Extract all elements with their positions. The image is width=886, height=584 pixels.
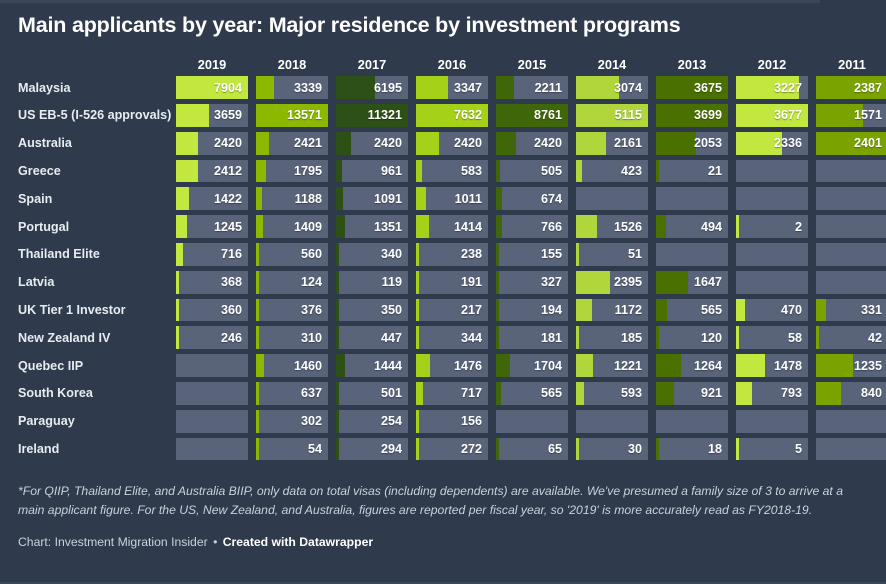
cell-value: 217: [416, 299, 488, 322]
cell-value: 1235: [816, 354, 886, 377]
data-cell[interactable]: 3227: [736, 74, 808, 102]
data-cell[interactable]: 470: [736, 296, 808, 324]
row-cells: 2412179596158350542321: [176, 157, 886, 185]
row-label-thailand-elite: Thailand Elite: [14, 241, 176, 269]
data-cell[interactable]: 5: [736, 435, 808, 463]
data-cell[interactable]: 119: [336, 268, 408, 296]
cell-value: 1011: [416, 187, 488, 210]
data-cell[interactable]: 18: [656, 435, 728, 463]
cell-value: 2336: [736, 132, 808, 155]
data-cell[interactable]: 1414: [416, 213, 488, 241]
cell-value: 2401: [816, 132, 886, 155]
data-cell[interactable]: 302: [256, 407, 328, 435]
cell-value: 340: [336, 243, 408, 266]
data-cell[interactable]: 717: [416, 379, 488, 407]
cell-value: 8761: [496, 104, 568, 127]
data-cell[interactable]: [656, 185, 728, 213]
cell-value: 1409: [256, 215, 328, 238]
data-cell[interactable]: 3699: [656, 102, 728, 130]
data-cell[interactable]: [496, 407, 568, 435]
data-cell[interactable]: [816, 185, 886, 213]
year-label: 2016: [438, 57, 466, 72]
cell-value: 3339: [256, 76, 328, 99]
data-cell[interactable]: 6195: [336, 74, 408, 102]
table-row: Portugal124514091351141476615264942: [14, 213, 872, 241]
cell-value: 3699: [656, 104, 728, 127]
cell-track: [816, 187, 886, 210]
cell-value: 2420: [176, 132, 248, 155]
row-label-latvia: Latvia: [14, 268, 176, 296]
data-cell[interactable]: 2401: [816, 129, 886, 157]
cell-value: 494: [656, 215, 728, 238]
data-cell[interactable]: 294: [336, 435, 408, 463]
data-cell[interactable]: 238: [416, 241, 488, 269]
data-cell[interactable]: 2: [736, 213, 808, 241]
cell-value: 1422: [176, 187, 248, 210]
year-header-2017: 2017: [336, 48, 408, 74]
data-cell[interactable]: 1476: [416, 352, 488, 380]
year-label: 2012: [758, 57, 786, 72]
data-cell[interactable]: 637: [256, 379, 328, 407]
data-cell[interactable]: [816, 268, 886, 296]
cell-value: 7632: [416, 104, 488, 127]
data-cell[interactable]: 423: [576, 157, 648, 185]
data-cell[interactable]: 13571: [256, 102, 328, 130]
year-header-2016: 2016: [416, 48, 488, 74]
row-cells: 14601444147617041221126414781235: [176, 352, 886, 380]
data-cell[interactable]: 3339: [256, 74, 328, 102]
cell-track: [816, 410, 886, 433]
data-cell[interactable]: [176, 352, 248, 380]
cell-value: 21: [656, 160, 728, 183]
data-cell[interactable]: [736, 407, 808, 435]
cell-value: 3227: [736, 76, 808, 99]
data-cell[interactable]: [176, 435, 248, 463]
data-cell[interactable]: [816, 241, 886, 269]
data-cell[interactable]: 51: [576, 241, 648, 269]
cell-value: 238: [416, 243, 488, 266]
cell-value: 6195: [336, 76, 408, 99]
data-cell[interactable]: 217: [416, 296, 488, 324]
cell-value: 2161: [576, 132, 648, 155]
data-cell[interactable]: 3677: [736, 102, 808, 130]
cell-track: [656, 187, 728, 210]
year-header-2018: 2018: [256, 48, 328, 74]
row-cells: 790433396195334722113074367532272387: [176, 74, 886, 102]
year-label: 2017: [358, 57, 386, 72]
data-cell[interactable]: 1460: [256, 352, 328, 380]
data-cell[interactable]: 156: [416, 407, 488, 435]
data-cell[interactable]: 501: [336, 379, 408, 407]
cell-value: 565: [656, 299, 728, 322]
data-cell[interactable]: 65: [496, 435, 568, 463]
data-cell[interactable]: 565: [656, 296, 728, 324]
cell-value: 2420: [336, 132, 408, 155]
table-row: Ireland542942726530185: [14, 435, 872, 463]
data-cell[interactable]: 21: [656, 157, 728, 185]
cell-value: 124: [256, 271, 328, 294]
cell-value: 2387: [816, 76, 886, 99]
cell-value: 1351: [336, 215, 408, 238]
data-cell[interactable]: 350: [336, 296, 408, 324]
data-cell[interactable]: 1571: [816, 102, 886, 130]
cell-value: 11321: [336, 104, 408, 127]
cell-value: 194: [496, 299, 568, 322]
cell-track: [816, 243, 886, 266]
cell-value: 30: [576, 438, 648, 461]
cell-value: 310: [256, 326, 328, 349]
cell-value: 2420: [416, 132, 488, 155]
year-label: 2018: [278, 57, 306, 72]
data-cell[interactable]: 593: [576, 379, 648, 407]
cell-value: 51: [576, 243, 648, 266]
cell-value: 766: [496, 215, 568, 238]
cell-track: [816, 215, 886, 238]
table-row: South Korea637501717565593921793840: [14, 379, 872, 407]
data-cell[interactable]: [816, 157, 886, 185]
cell-value: 1795: [256, 160, 328, 183]
cell-value: 1245: [176, 215, 248, 238]
cell-value: 376: [256, 299, 328, 322]
data-cell[interactable]: 2412: [176, 157, 248, 185]
data-cell[interactable]: 310: [256, 324, 328, 352]
data-cell[interactable]: 1172: [576, 296, 648, 324]
cell-value: 302: [256, 410, 328, 433]
cell-value: 1460: [256, 354, 328, 377]
cell-value: 560: [256, 243, 328, 266]
table-header-row: 201920182017201620152014201320122011: [14, 48, 872, 74]
cell-value: 327: [496, 271, 568, 294]
cell-value: 3074: [576, 76, 648, 99]
data-cell[interactable]: [816, 213, 886, 241]
data-cell[interactable]: [816, 435, 886, 463]
cell-value: 155: [496, 243, 568, 266]
data-cell[interactable]: [736, 241, 808, 269]
table-row: Quebec IIP146014441476170412211264147812…: [14, 352, 872, 380]
data-cell[interactable]: 7632: [416, 102, 488, 130]
year-header-2012: 2012: [736, 48, 808, 74]
data-cell[interactable]: [656, 241, 728, 269]
chart-source: Chart: Investment Migration Insider: [18, 535, 208, 549]
year-label: 2014: [598, 57, 626, 72]
data-cell[interactable]: 1444: [336, 352, 408, 380]
data-cell[interactable]: 11321: [336, 102, 408, 130]
cell-value: 3675: [656, 76, 728, 99]
cell-track: [736, 410, 808, 433]
row-label-greece: Greece: [14, 157, 176, 185]
data-cell[interactable]: 2387: [816, 74, 886, 102]
cell-value: 505: [496, 160, 568, 183]
year-header-2014: 2014: [576, 48, 648, 74]
data-cell[interactable]: 8761: [496, 102, 568, 130]
header-corner-spacer: [14, 48, 176, 74]
table-row: US EB-5 (I-526 approvals)365913571113217…: [14, 102, 872, 130]
cell-value: 7904: [176, 76, 248, 99]
data-cell[interactable]: 3659: [176, 102, 248, 130]
cell-value: 1478: [736, 354, 808, 377]
data-cell[interactable]: 7904: [176, 74, 248, 102]
cell-value: 1414: [416, 215, 488, 238]
data-cell[interactable]: [176, 379, 248, 407]
data-cell[interactable]: 327: [496, 268, 568, 296]
cell-value: 254: [336, 410, 408, 433]
data-cell[interactable]: 2420: [336, 129, 408, 157]
cell-value: 2420: [496, 132, 568, 155]
cell-value: 120: [656, 326, 728, 349]
cell-value: 3347: [416, 76, 488, 99]
cell-track: [576, 410, 648, 433]
row-label-south-korea: South Korea: [14, 379, 176, 407]
cell-value: 423: [576, 160, 648, 183]
data-cell[interactable]: 30: [576, 435, 648, 463]
cell-value: 1571: [816, 104, 886, 127]
data-cell[interactable]: 272: [416, 435, 488, 463]
data-cell[interactable]: 2421: [256, 129, 328, 157]
cell-value: 1264: [656, 354, 728, 377]
year-label: 2015: [518, 57, 546, 72]
row-cells: 637501717565593921793840: [176, 379, 886, 407]
row-label-ireland: Ireland: [14, 435, 176, 463]
data-cell[interactable]: 1647: [656, 268, 728, 296]
row-cells: 1422118810911011674: [176, 185, 886, 213]
data-cell[interactable]: 1011: [416, 185, 488, 213]
data-cell[interactable]: 1795: [256, 157, 328, 185]
year-label: 2011: [838, 57, 866, 72]
data-cell[interactable]: 1245: [176, 213, 248, 241]
table-row: Malaysia79043339619533472211307436753227…: [14, 74, 872, 102]
row-label-portugal: Portugal: [14, 213, 176, 241]
cell-value: 13571: [256, 104, 328, 127]
data-cell[interactable]: 185: [576, 324, 648, 352]
cell-value: 191: [416, 271, 488, 294]
data-cell[interactable]: 360: [176, 296, 248, 324]
data-cell[interactable]: 1351: [336, 213, 408, 241]
cell-value: 637: [256, 382, 328, 405]
cell-value: 181: [496, 326, 568, 349]
data-cell[interactable]: 2395: [576, 268, 648, 296]
row-label-us-eb-5-i-526-approvals: US EB-5 (I-526 approvals): [14, 102, 176, 130]
cell-track: [736, 187, 808, 210]
year-header-2015: 2015: [496, 48, 568, 74]
data-cell[interactable]: [736, 185, 808, 213]
data-cell[interactable]: 716: [176, 241, 248, 269]
cell-track: [496, 410, 568, 433]
cell-value: 1444: [336, 354, 408, 377]
data-cell[interactable]: 5115: [576, 102, 648, 130]
cell-value: 5115: [576, 104, 648, 127]
data-cell[interactable]: 565: [496, 379, 568, 407]
cell-value: 716: [176, 243, 248, 266]
row-cells: 302254156: [176, 407, 886, 435]
data-cell[interactable]: 2420: [176, 129, 248, 157]
data-cell[interactable]: 961: [336, 157, 408, 185]
table-body: Malaysia79043339619533472211307436753227…: [14, 74, 872, 463]
data-cell[interactable]: 1188: [256, 185, 328, 213]
data-cell[interactable]: 921: [656, 379, 728, 407]
row-label-new-zealand-iv: New Zealand IV: [14, 324, 176, 352]
table-row: UK Tier 1 Investor3603763502171941172565…: [14, 296, 872, 324]
year-header-cells: 201920182017201620152014201320122011: [176, 48, 886, 74]
cell-value: 2412: [176, 160, 248, 183]
data-cell[interactable]: 1221: [576, 352, 648, 380]
cell-track: [816, 438, 886, 461]
cell-value: 3659: [176, 104, 248, 127]
data-cell[interactable]: 1526: [576, 213, 648, 241]
cell-value: 360: [176, 299, 248, 322]
page-title: Main applicants by year: Major residence…: [14, 0, 872, 38]
cell-value: 840: [816, 382, 886, 405]
datawrapper-link[interactable]: Created with Datawrapper: [223, 535, 373, 549]
cell-track: [816, 271, 886, 294]
data-cell[interactable]: 2420: [496, 129, 568, 157]
cell-value: 565: [496, 382, 568, 405]
data-cell[interactable]: 447: [336, 324, 408, 352]
row-cells: 242024212420242024202161205323362401: [176, 129, 886, 157]
row-label-uk-tier-1-investor: UK Tier 1 Investor: [14, 296, 176, 324]
cell-value: 2211: [496, 76, 568, 99]
year-header-2013: 2013: [656, 48, 728, 74]
cell-value: 1091: [336, 187, 408, 210]
data-cell[interactable]: 191: [416, 268, 488, 296]
year-label: 2019: [198, 57, 226, 72]
cell-value: 1526: [576, 215, 648, 238]
data-cell[interactable]: 3347: [416, 74, 488, 102]
data-cell[interactable]: 368: [176, 268, 248, 296]
row-cells: 124514091351141476615264942: [176, 213, 886, 241]
cell-track: [176, 438, 248, 461]
cell-value: 2421: [256, 132, 328, 155]
data-cell[interactable]: 155: [496, 241, 568, 269]
data-cell[interactable]: [736, 157, 808, 185]
data-cell[interactable]: 344: [416, 324, 488, 352]
footnote-text: *For QIIP, Thailand Elite, and Australia…: [18, 482, 872, 520]
cell-value: 156: [416, 410, 488, 433]
data-cell[interactable]: 120: [656, 324, 728, 352]
cell-track: [176, 382, 248, 405]
cell-track: [736, 271, 808, 294]
year-label: 2013: [678, 57, 706, 72]
cell-value: 501: [336, 382, 408, 405]
cell-value: 470: [736, 299, 808, 322]
row-label-spain: Spain: [14, 185, 176, 213]
cell-value: 921: [656, 382, 728, 405]
data-cell[interactable]: 340: [336, 241, 408, 269]
cell-value: 58: [736, 326, 808, 349]
data-cell[interactable]: 246: [176, 324, 248, 352]
data-cell[interactable]: 766: [496, 213, 568, 241]
data-cell[interactable]: 494: [656, 213, 728, 241]
row-cells: 36812411919132723951647: [176, 268, 886, 296]
data-cell[interactable]: 840: [816, 379, 886, 407]
data-cell[interactable]: 54: [256, 435, 328, 463]
data-cell[interactable]: [176, 407, 248, 435]
cell-value: 2053: [656, 132, 728, 155]
chart-footer: *For QIIP, Thailand Elite, and Australia…: [18, 482, 872, 549]
table-row: Thailand Elite71656034023815551: [14, 241, 872, 269]
data-cell[interactable]: 1091: [336, 185, 408, 213]
data-cell[interactable]: 2336: [736, 129, 808, 157]
cell-value: 368: [176, 271, 248, 294]
row-cells: 2463104473441811851205842: [176, 324, 886, 352]
cell-value: 331: [816, 299, 886, 322]
cell-value: 1704: [496, 354, 568, 377]
data-cell[interactable]: 3074: [576, 74, 648, 102]
data-cell[interactable]: 254: [336, 407, 408, 435]
row-cells: 3603763502171941172565470331: [176, 296, 886, 324]
cell-value: 1476: [416, 354, 488, 377]
data-cell[interactable]: 1264: [656, 352, 728, 380]
table-row: Paraguay302254156: [14, 407, 872, 435]
cell-value: 344: [416, 326, 488, 349]
cell-track: [736, 160, 808, 183]
data-cell[interactable]: 560: [256, 241, 328, 269]
data-cell[interactable]: 2161: [576, 129, 648, 157]
cell-value: 65: [496, 438, 568, 461]
table-row: Latvia36812411919132723951647: [14, 268, 872, 296]
data-cell[interactable]: [816, 407, 886, 435]
year-header-2011: 2011: [816, 48, 886, 74]
row-label-quebec-iip: Quebec IIP: [14, 352, 176, 380]
data-cell[interactable]: 793: [736, 379, 808, 407]
data-cell[interactable]: 2053: [656, 129, 728, 157]
cell-value: 18: [656, 438, 728, 461]
data-cell[interactable]: 2420: [416, 129, 488, 157]
data-cell[interactable]: 124: [256, 268, 328, 296]
cell-value: 1172: [576, 299, 648, 322]
data-cell[interactable]: [736, 268, 808, 296]
data-cell[interactable]: 1235: [816, 352, 886, 380]
cell-value: 246: [176, 326, 248, 349]
data-cell[interactable]: [576, 407, 648, 435]
row-label-malaysia: Malaysia: [14, 74, 176, 102]
data-cell[interactable]: 58: [736, 324, 808, 352]
row-cells: 71656034023815551: [176, 241, 886, 269]
data-cell[interactable]: 1422: [176, 185, 248, 213]
data-cell[interactable]: 1478: [736, 352, 808, 380]
cell-value: 2: [736, 215, 808, 238]
table-row: Spain1422118810911011674: [14, 185, 872, 213]
data-cell[interactable]: 674: [496, 185, 568, 213]
data-cell[interactable]: 1704: [496, 352, 568, 380]
data-cell[interactable]: 181: [496, 324, 568, 352]
data-cell[interactable]: 3675: [656, 74, 728, 102]
cell-value: 1221: [576, 354, 648, 377]
data-cell[interactable]: [576, 185, 648, 213]
cell-value: 3677: [736, 104, 808, 127]
cell-value: 593: [576, 382, 648, 405]
data-cell[interactable]: 2211: [496, 74, 568, 102]
table-row: Greece2412179596158350542321: [14, 157, 872, 185]
cell-value: 447: [336, 326, 408, 349]
cell-value: 2395: [576, 271, 648, 294]
data-cell[interactable]: 1409: [256, 213, 328, 241]
cell-value: 961: [336, 160, 408, 183]
cell-track: [656, 243, 728, 266]
data-cell[interactable]: 194: [496, 296, 568, 324]
cell-value: 1647: [656, 271, 728, 294]
data-cell[interactable]: [656, 407, 728, 435]
row-label-australia: Australia: [14, 129, 176, 157]
data-cell[interactable]: 376: [256, 296, 328, 324]
row-cells: 36591357111321763287615115369936771571: [176, 102, 886, 130]
data-cell[interactable]: 42: [816, 324, 886, 352]
data-cell[interactable]: 583: [416, 157, 488, 185]
cell-value: 1188: [256, 187, 328, 210]
credit-separator: •: [211, 535, 219, 549]
cell-value: 583: [416, 160, 488, 183]
data-cell[interactable]: 331: [816, 296, 886, 324]
data-cell[interactable]: 505: [496, 157, 568, 185]
